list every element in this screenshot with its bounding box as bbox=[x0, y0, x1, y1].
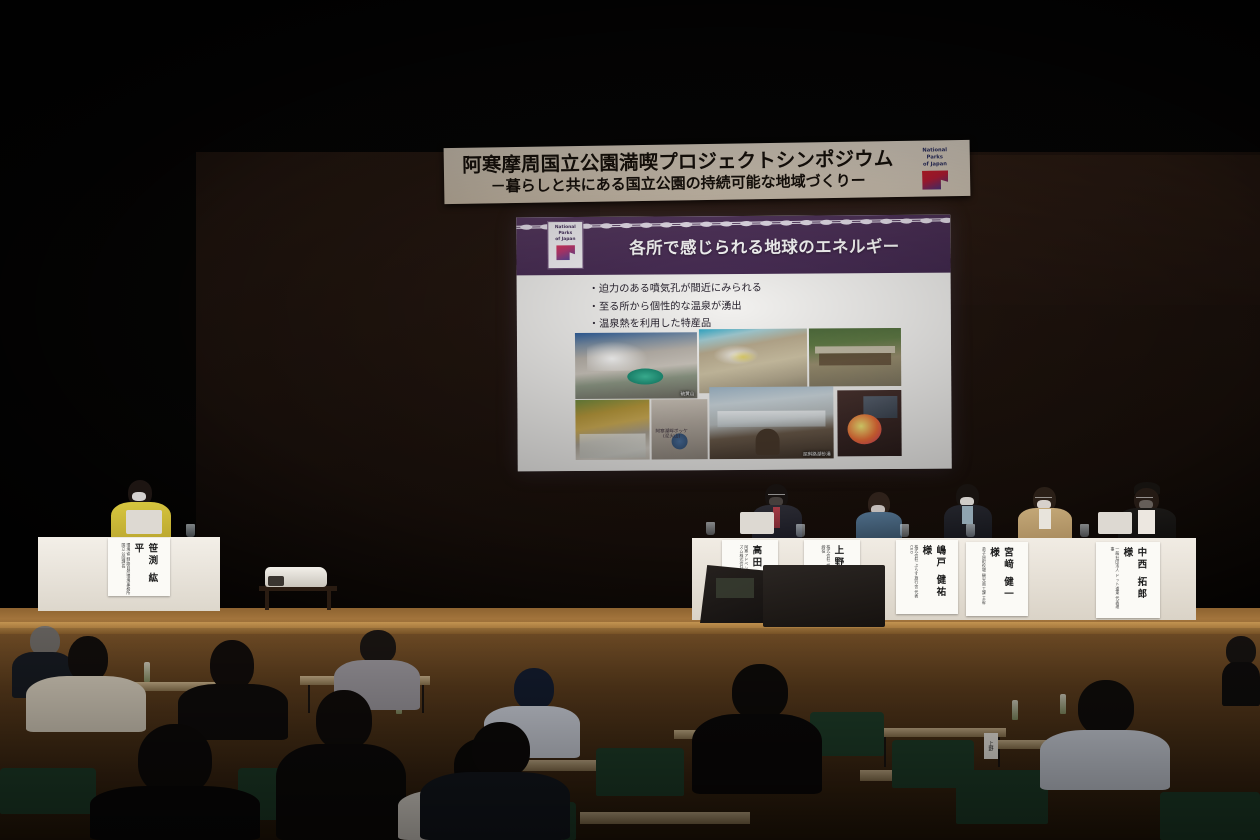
audience-member-11-head bbox=[1078, 680, 1134, 736]
panel-placard-5-name: 中西 拓郎 様 bbox=[1119, 547, 1147, 618]
audience-chair bbox=[1160, 792, 1260, 840]
projector-lens-icon bbox=[268, 576, 284, 586]
panel-placard-5-org: 一般社団法人 ドット道東 代表理事 bbox=[1110, 547, 1120, 611]
panelist-2 bbox=[856, 492, 902, 542]
audience-member-3-head bbox=[210, 640, 254, 690]
panelist-1-necktie bbox=[773, 507, 780, 528]
panelist-4 bbox=[1018, 487, 1072, 542]
panelist-laptop-right bbox=[1098, 512, 1132, 534]
panelist-laptop-left bbox=[740, 512, 774, 534]
panel-placard-4: 宮﨑 健一 様 弟子屈町役場 観光商工課 主幹 bbox=[966, 542, 1028, 616]
audience-member-6-head bbox=[316, 690, 372, 750]
panel-water-glass-5 bbox=[1080, 524, 1089, 537]
audience-chair bbox=[0, 768, 96, 814]
seat-card-1: 上野 bbox=[984, 733, 998, 759]
audience-member-9-head bbox=[472, 722, 530, 778]
panel-placard-3-org: 株式会社 ぷらす旅行舎 代表 CEO bbox=[909, 545, 919, 609]
audience-member-9 bbox=[420, 722, 570, 840]
audience-member-4-body bbox=[90, 786, 260, 840]
panel-placard-4-name: 宮﨑 健一 様 bbox=[986, 547, 1014, 616]
panelist-4-inner-shirt bbox=[1039, 509, 1051, 529]
projector-stand-shape bbox=[259, 586, 337, 610]
podium-placard-name: 笹渕 紘平 bbox=[130, 543, 158, 596]
audience-member-10-head bbox=[732, 664, 788, 720]
panel-placard-5: 中西 拓郎 様 一般社団法人 ドット道東 代表理事 bbox=[1096, 542, 1160, 618]
audience-member-11-body bbox=[1040, 730, 1170, 790]
audience-table-leg bbox=[422, 685, 424, 713]
panel-water-glass-4 bbox=[966, 524, 975, 537]
audience-member-8-head bbox=[514, 668, 554, 710]
projector-stand bbox=[259, 586, 337, 610]
audience-member-10-body bbox=[692, 714, 822, 794]
audience-member-6 bbox=[276, 690, 406, 840]
audience-member-11 bbox=[1040, 680, 1170, 790]
panel-water-glass-1 bbox=[706, 522, 715, 535]
audience-table-leg bbox=[884, 737, 886, 767]
stage-front-edge bbox=[0, 622, 1260, 634]
confidence-display-panel bbox=[763, 565, 885, 627]
audience-member-9-body bbox=[420, 772, 570, 840]
audience-member-2 bbox=[26, 636, 146, 732]
podium-water-glass bbox=[186, 524, 195, 537]
panel-water-glass-3 bbox=[900, 524, 909, 537]
panel-placard-3-name: 嶋戸 健祐 様 bbox=[918, 545, 946, 614]
audience-chair bbox=[956, 770, 1048, 824]
podium-placard-org: 環境省 釧路自然環境事務所 国立公園課長 bbox=[121, 543, 131, 596]
podium-laptop bbox=[126, 510, 162, 534]
audience-member-4 bbox=[90, 724, 260, 840]
audience-member-10 bbox=[692, 664, 822, 794]
panel-water-glass-2 bbox=[796, 524, 805, 537]
audience-table-r2c bbox=[580, 812, 750, 824]
audience-member-6-body bbox=[276, 744, 406, 840]
audience-member-5-head bbox=[360, 630, 396, 664]
audience-member-12-body bbox=[1222, 662, 1260, 706]
podium-speaker-mask bbox=[132, 492, 146, 501]
panelist-5-inner-shirt bbox=[1138, 510, 1155, 534]
seat-card-1-label: 上野 bbox=[988, 741, 995, 751]
symposium-hall-photo: 阿寒摩周国立公園満喫プロジェクトシンポジウム －暮らしと共にある国立公園の持続可… bbox=[0, 0, 1260, 840]
podium-placard: 笹渕 紘平 環境省 釧路自然環境事務所 国立公園課長 bbox=[108, 538, 170, 596]
speaker-grille-icon bbox=[716, 578, 754, 598]
panel-placard-3: 嶋戸 健祐 様 株式会社 ぷらす旅行舎 代表 CEO bbox=[896, 540, 958, 614]
audience-chair bbox=[596, 748, 684, 796]
audience-member-12 bbox=[1222, 636, 1260, 706]
panelist-3-shirt bbox=[962, 506, 973, 524]
water-bottle-3 bbox=[1012, 700, 1018, 720]
